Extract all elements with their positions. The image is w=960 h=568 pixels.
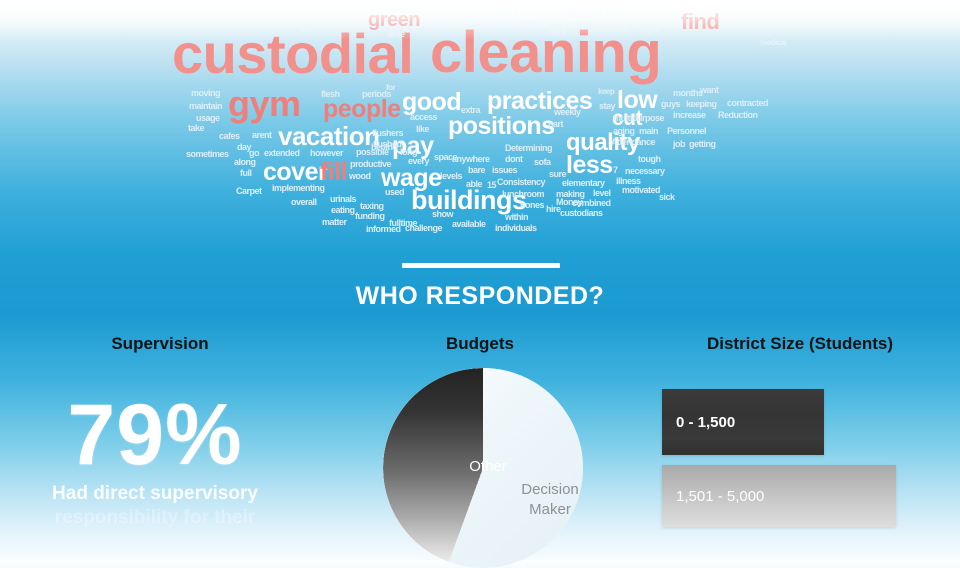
stat-caption-line-1: Had direct supervisory	[0, 483, 310, 505]
supervision-stat: 79% Had direct supervisory responsibilit…	[0, 395, 310, 529]
word-cloud-term: extra	[461, 106, 480, 115]
word-cloud-term: productive	[350, 160, 391, 169]
word-cloud-term: individuals	[495, 224, 537, 233]
word-cloud-term: for	[386, 84, 395, 92]
word-cloud-term: need	[474, 8, 519, 28]
word-cloud-term: Carpet	[236, 187, 262, 196]
word-cloud-term: increase	[673, 111, 706, 120]
word-cloud-term: aging	[613, 127, 635, 136]
word-cloud-term: elementary	[562, 179, 605, 188]
word-cloud-term: guys	[661, 100, 680, 109]
word-cloud-term: eating	[331, 206, 355, 215]
word-cloud-term: some	[738, 20, 760, 29]
word-cloud-term: informed	[366, 225, 401, 234]
word-cloud-term: getting	[689, 140, 716, 149]
bar-label-0-1500: 0 - 1,500	[676, 414, 735, 431]
pie-label-decision-maker-line-2: Maker	[529, 501, 571, 518]
district-size-bar-chart: 0 - 1,500 1,501 - 5,000	[662, 389, 922, 549]
word-cloud-term: extended	[264, 149, 300, 158]
word-cloud-term: challenge	[405, 224, 442, 233]
word-cloud-term: part	[548, 120, 563, 129]
word-cloud-term: funding	[355, 212, 385, 221]
bar-row-0-1500: 0 - 1,500	[662, 389, 824, 455]
word-cloud-term: wood	[349, 172, 371, 181]
word-cloud-term: tough	[638, 155, 661, 164]
word-cloud-term: maintain	[189, 102, 222, 111]
word-cloud-term: low	[430, 18, 444, 27]
pie-label-other: Other	[443, 458, 533, 475]
word-cloud-term: level	[593, 189, 611, 198]
word-cloud-term: medical	[760, 39, 786, 47]
word-cloud-term: motivated	[622, 186, 660, 195]
word-cloud-term: matter	[322, 218, 347, 227]
word-cloud-term: usage	[196, 114, 220, 123]
word-cloud-term: multipurpose	[613, 114, 664, 123]
word-cloud-term: available	[452, 220, 486, 229]
word-cloud-term: access	[410, 113, 437, 122]
word-cloud-term: levels	[440, 172, 462, 181]
title-divider	[402, 263, 560, 268]
word-cloud-term: take	[188, 124, 204, 133]
word-cloud-term: flushers	[372, 129, 403, 138]
word-cloud-term: Determining	[505, 144, 552, 153]
word-cloud-term: Reduction	[718, 111, 758, 120]
pie-label-decision-maker: Decision Maker	[495, 480, 605, 521]
word-cloud-term: less	[566, 153, 613, 178]
word-cloud-term: overall	[291, 198, 317, 207]
word-cloud-term: months	[673, 89, 703, 98]
word-cloud-term: keeping	[686, 100, 717, 109]
word-cloud-term: used	[385, 188, 404, 197]
word-cloud-term: every	[408, 157, 429, 166]
section-heading-supervision: Supervision	[40, 334, 280, 354]
word-cloud-term: able	[466, 180, 482, 189]
word-cloud-term: taxing	[360, 202, 384, 211]
bar-label-1501-5000: 1,501 - 5,000	[676, 488, 764, 505]
word-cloud-term: keep	[598, 88, 614, 96]
pie-disc: Other	[383, 368, 583, 568]
word-cloud-term: full	[240, 169, 252, 178]
word-cloud-term: like	[416, 125, 429, 134]
word-cloud-term: Attendance	[611, 138, 655, 147]
word-cloud-term: positions	[448, 114, 555, 139]
word-cloud-term: people	[323, 97, 401, 122]
word-cloud-term: show	[432, 210, 453, 219]
stat-value: 79%	[0, 395, 310, 477]
budgets-pie-chart: Other	[333, 368, 633, 568]
word-cloud-term: sofa	[534, 158, 551, 167]
word-cloud-term: main	[639, 127, 658, 136]
word-cloud-term: job	[673, 140, 685, 149]
word-cloud-term: behind	[371, 143, 398, 152]
word-cloud-term: implementing	[272, 184, 325, 193]
word-cloud-term: fill	[320, 160, 347, 185]
word-cloud-term: this	[300, 26, 312, 34]
word-cloud: custodialcleaninggympeoplegoodpracticesl…	[0, 0, 960, 245]
bar-row-1501-5000: 1,501 - 5,000	[662, 465, 896, 527]
word-cloud-term: flesh	[321, 90, 340, 99]
word-cloud-term: along	[234, 158, 256, 167]
word-cloud-term: contracted	[727, 99, 768, 108]
word-cloud-term: arent	[252, 131, 272, 140]
word-cloud-term: within	[505, 213, 528, 222]
word-cloud-term: anywhere	[452, 155, 490, 164]
word-cloud-term: however	[310, 149, 343, 158]
word-cloud-term: weekly	[554, 108, 581, 117]
word-cloud-term: cover	[263, 160, 327, 185]
word-cloud-term: combined	[572, 199, 611, 208]
word-cloud-term: pour	[290, 16, 306, 24]
word-cloud-term: find	[681, 11, 719, 33]
stat-caption-line-2: responsibility for their	[0, 507, 310, 529]
word-cloud-term: cleaning	[555, 6, 632, 26]
word-cloud-term: custodians	[560, 209, 603, 218]
word-cloud-term: Personnel	[667, 127, 706, 136]
word-cloud-term: bones	[520, 201, 544, 210]
word-cloud-term: want	[700, 86, 719, 95]
word-cloud-term: stay	[599, 102, 615, 111]
word-cloud-term: green	[368, 10, 420, 30]
word-cloud-term: gym	[228, 86, 301, 122]
word-cloud-term: time	[388, 30, 405, 39]
word-cloud-term: restrooms	[590, 25, 630, 34]
word-cloud-term: 7	[613, 166, 618, 175]
section-heading-budgets: Budgets	[360, 334, 600, 354]
word-cloud-term: necessary	[625, 167, 665, 176]
word-cloud-term: cafes	[219, 132, 240, 141]
page-title: WHO RESPONDED?	[0, 282, 960, 311]
word-cloud-term: issues	[492, 166, 517, 175]
word-cloud-term: vacation	[278, 123, 380, 149]
section-heading-district-size: District Size (Students)	[660, 334, 940, 354]
word-cloud-term: moving	[191, 89, 220, 98]
word-cloud-term: hard	[548, 28, 566, 37]
word-cloud-term: 15	[487, 181, 496, 190]
word-cloud-term: custodial	[172, 26, 413, 82]
word-cloud-term: sick	[659, 193, 675, 202]
word-cloud-term: Consistency	[497, 178, 545, 187]
word-cloud-term: dont	[505, 155, 523, 164]
word-cloud-term: night	[640, 25, 660, 34]
word-cloud-term: sometimes	[186, 150, 229, 159]
word-cloud-term: lunchroom	[502, 190, 544, 199]
word-cloud-term: urinals	[330, 195, 356, 204]
pie-label-decision-maker-line-1: Decision	[521, 481, 579, 498]
word-cloud-term: towels	[515, 18, 540, 27]
word-cloud-term: bare	[468, 166, 485, 175]
